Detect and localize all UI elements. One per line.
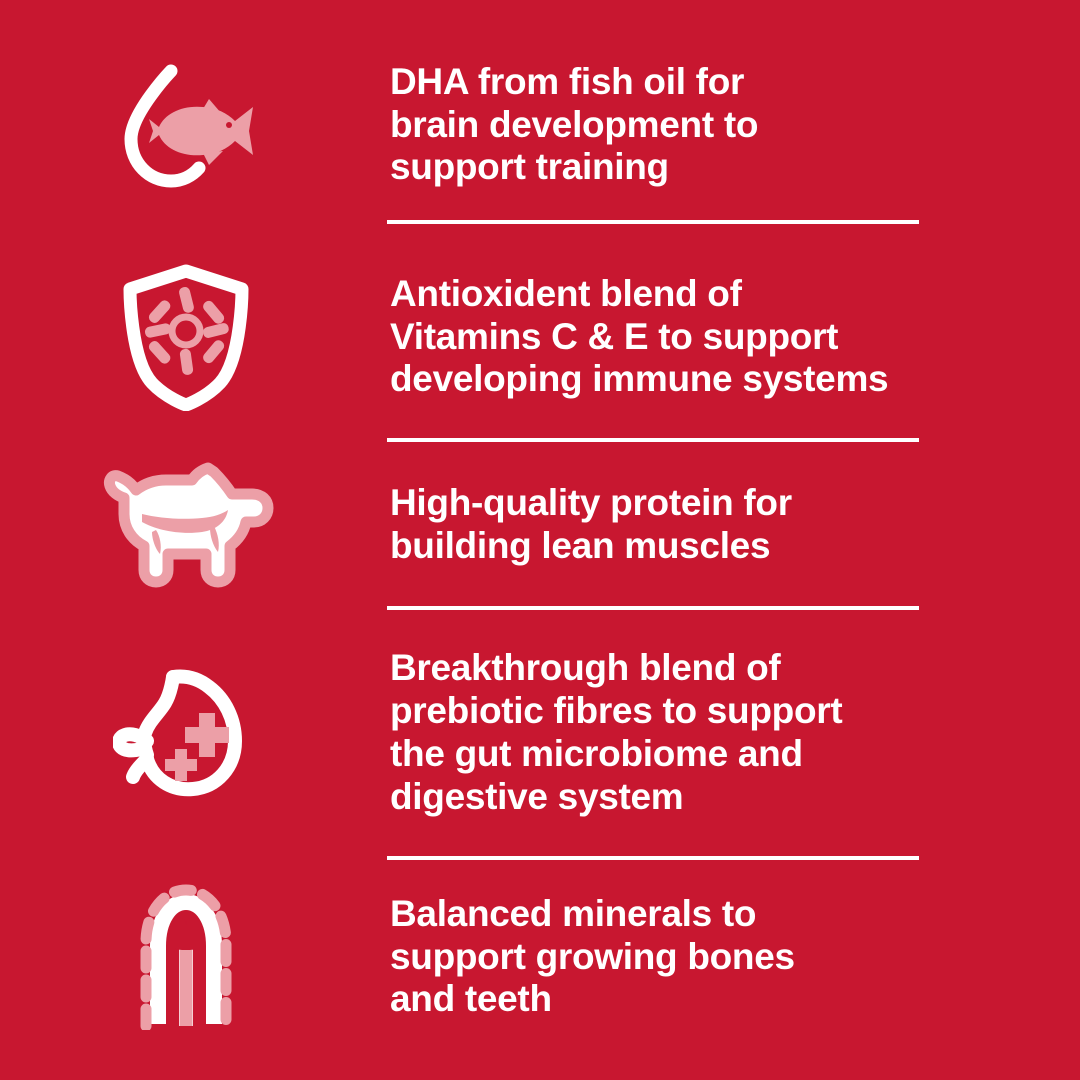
stomach-digestive-icon	[0, 663, 390, 803]
feature-row-antioxidant: Antioxident blend of Vitamins C & E to s…	[0, 262, 1080, 412]
feature-row-gut: Breakthrough blend of prebiotic fibres t…	[0, 638, 1080, 828]
benefits-panel: DHA from fish oil for brain development …	[0, 0, 1080, 1080]
feature-text-antioxidant: Antioxident blend of Vitamins C & E to s…	[390, 273, 980, 402]
shield-antioxidant-icon	[0, 263, 390, 411]
feature-row-protein: High-quality protein for building lean m…	[0, 452, 1080, 597]
divider-2	[387, 438, 919, 442]
divider-3	[387, 606, 919, 610]
feature-text-dha: DHA from fish oil for brain development …	[390, 61, 980, 190]
feature-text-cell: Balanced minerals to support growing bon…	[390, 893, 1080, 1022]
feature-text-gut: Breakthrough blend of prebiotic fibres t…	[390, 647, 980, 819]
feature-text-cell: DHA from fish oil for brain development …	[390, 61, 1080, 190]
feature-text-protein: High-quality protein for building lean m…	[390, 482, 980, 568]
divider-4	[387, 856, 919, 860]
feature-text-cell: Breakthrough blend of prebiotic fibres t…	[390, 647, 1080, 819]
dog-muscle-icon	[0, 458, 390, 592]
bone-minerals-icon	[0, 884, 390, 1030]
fish-oil-droplet-icon	[0, 55, 390, 195]
feature-text-cell: High-quality protein for building lean m…	[390, 482, 1080, 568]
feature-row-minerals: Balanced minerals to support growing bon…	[0, 882, 1080, 1032]
feature-text-minerals: Balanced minerals to support growing bon…	[390, 893, 980, 1022]
feature-text-cell: Antioxident blend of Vitamins C & E to s…	[390, 273, 1080, 402]
divider-1	[387, 220, 919, 224]
feature-row-dha: DHA from fish oil for brain development …	[0, 50, 1080, 200]
